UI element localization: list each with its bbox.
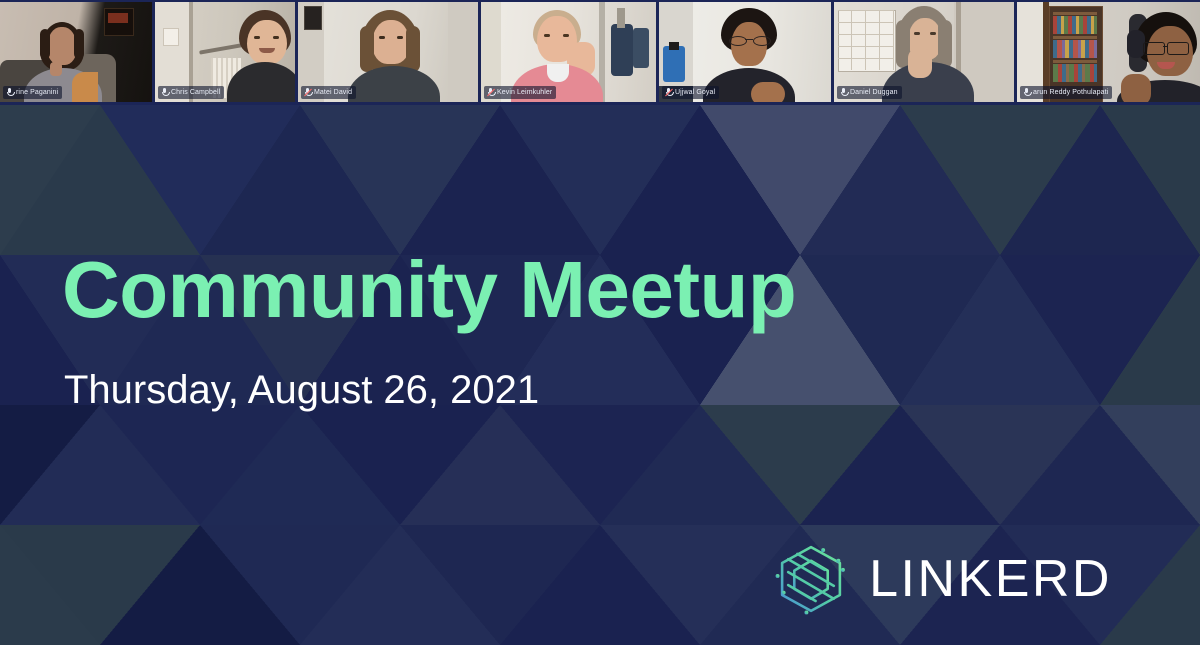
participant-tile[interactable]: Ujjwal Goyal [659, 2, 831, 102]
linkerd-brand-lockup: LINKERD [773, 541, 1112, 617]
participant-name-badge: Daniel Duggan [837, 86, 902, 99]
participant-name-badge: arun Reddy Pothulapati [1020, 86, 1112, 99]
participant-name-badge: Matei David [301, 86, 356, 99]
participant-name-badge: Ujjwal Goyal [662, 86, 719, 99]
microphone-muted-icon [487, 88, 494, 97]
microphone-muted-icon [665, 88, 672, 97]
microphone-muted-icon [304, 88, 311, 97]
participant-tile[interactable]: Daniel Duggan [834, 2, 1014, 102]
microphone-icon [1023, 88, 1030, 97]
participant-video-strip: rine Paganini [0, 0, 1200, 105]
linkerd-logo-icon [773, 541, 849, 617]
participant-name: Matei David [314, 88, 352, 97]
participant-name-badge: rine Paganini [3, 86, 62, 99]
participant-name: Kevin Leimkuhler [497, 88, 552, 97]
participant-name: Daniel Duggan [850, 88, 898, 97]
meeting-screen-share: rine Paganini [0, 0, 1200, 645]
participant-name: Ujjwal Goyal [675, 88, 715, 97]
participant-tile[interactable]: Chris Campbell [155, 2, 295, 102]
shared-presentation-slide: Community Meetup Thursday, August 26, 20… [0, 105, 1200, 645]
microphone-icon [161, 88, 168, 97]
microphone-icon [6, 88, 13, 97]
participant-tile[interactable]: Kevin Leimkuhler [481, 2, 656, 102]
participant-name-badge: Chris Campbell [158, 86, 224, 99]
participant-name: rine Paganini [16, 88, 58, 97]
participant-tile[interactable]: Matei David [298, 2, 478, 102]
participant-name: arun Reddy Pothulapati [1033, 88, 1108, 97]
participant-tile[interactable]: rine Paganini [0, 2, 152, 102]
linkerd-wordmark: LINKERD [869, 551, 1112, 607]
participant-name-badge: Kevin Leimkuhler [484, 86, 556, 99]
participant-name: Chris Campbell [171, 88, 220, 97]
microphone-icon [840, 88, 847, 97]
slide-title: Community Meetup [62, 246, 796, 334]
participant-tile[interactable]: arun Reddy Pothulapati [1017, 2, 1200, 102]
slide-subtitle: Thursday, August 26, 2021 [64, 367, 539, 413]
